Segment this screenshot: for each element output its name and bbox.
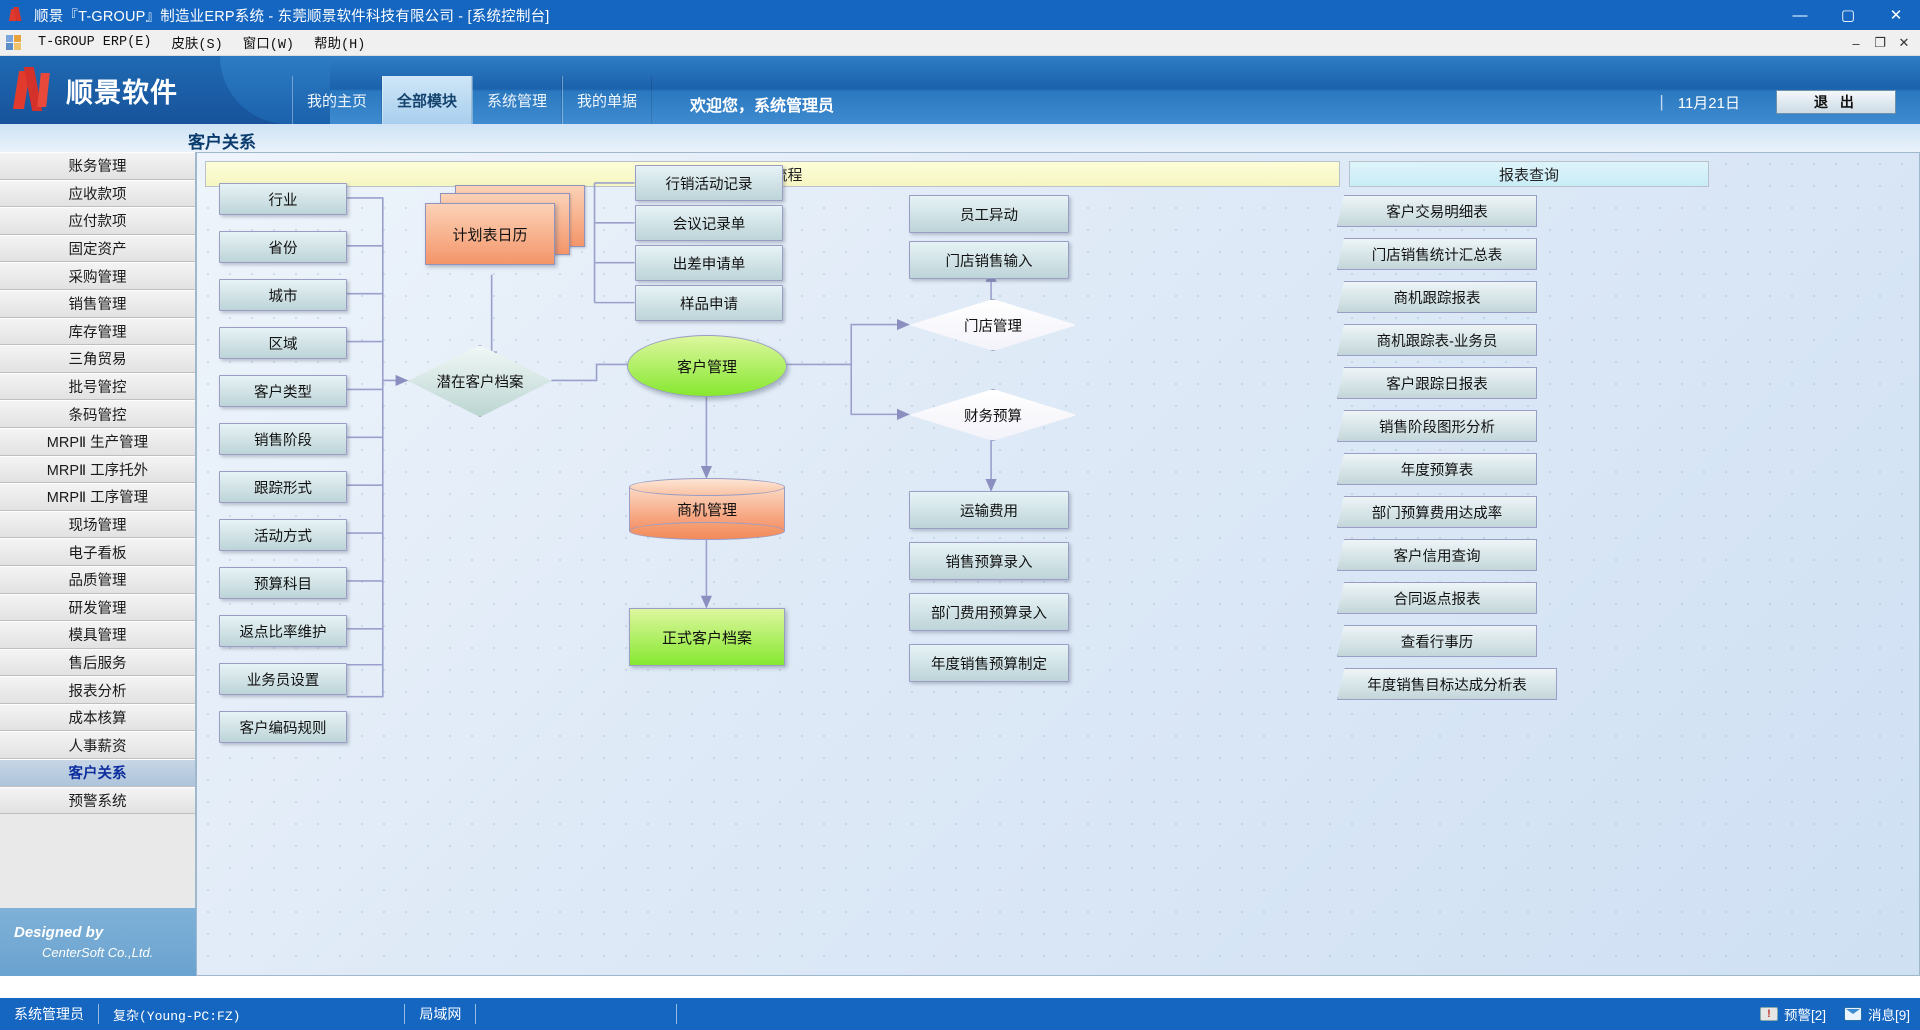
report-customer-tracking-daily[interactable]: 客户跟踪日报表	[1337, 367, 1537, 399]
node-employee-transfer[interactable]: 员工异动	[909, 195, 1069, 233]
sidebar-item-ekanban[interactable]: 电子看板	[0, 538, 195, 566]
menu-item-erp[interactable]: T-GROUP ERP(E)	[28, 32, 161, 53]
node-store-management-label: 门店管理	[964, 315, 1022, 336]
warning-icon	[1760, 1007, 1778, 1021]
report-customer-transaction-detail[interactable]: 客户交易明细表	[1337, 195, 1537, 227]
page-title: 客户关系	[188, 128, 256, 153]
node-customer-management[interactable]: 客户管理	[627, 335, 787, 397]
node-dept-expense-budget[interactable]: 部门费用预算录入	[909, 593, 1069, 631]
report-annual-budget[interactable]: 年度预算表	[1337, 453, 1537, 485]
sidebar-item-triangle-trade[interactable]: 三角贸易	[0, 345, 195, 373]
node-opportunity-label: 商机管理	[629, 478, 785, 540]
mdi-app-icon	[6, 35, 22, 51]
sidebar-footer-credit: Designed by CenterSoft Co.,Ltd.	[0, 908, 196, 976]
sidebar-item-receivables[interactable]: 应收款项	[0, 180, 195, 208]
node-potential-customer-file[interactable]: 潜在客户档案	[408, 345, 552, 417]
sidebar-item-cost-accounting[interactable]: 成本核算	[0, 704, 195, 732]
mdi-window-controls: – ❐ ✕	[1844, 30, 1916, 56]
logout-button[interactable]: 退 出	[1776, 90, 1896, 114]
status-connection: 复杂(Young-PC:FZ)	[99, 998, 254, 1030]
minimize-icon[interactable]: —	[1776, 0, 1824, 30]
node-city[interactable]: 城市	[219, 279, 347, 311]
sidebar-item-quality[interactable]: 品质管理	[0, 566, 195, 594]
mail-icon	[1844, 1007, 1862, 1021]
node-province[interactable]: 省份	[219, 231, 347, 263]
sidebar-item-shopfloor[interactable]: 现场管理	[0, 511, 195, 539]
window-titlebar: 顺景『T-GROUP』制造业ERP系统 - 东莞顺景软件科技有限公司 - [系统…	[0, 0, 1920, 30]
vendor-name-label: CenterSoft Co.,Ltd.	[0, 945, 196, 960]
alert-indicator[interactable]: 预警[2]	[1760, 1004, 1826, 1024]
sidebar-item-accounting[interactable]: 账务管理	[0, 152, 195, 180]
report-store-sales-summary[interactable]: 门店销售统计汇总表	[1337, 238, 1537, 270]
main-nav-tabs: 我的主页 全部模块 系统管理 我的单据	[292, 76, 652, 124]
node-formal-customer-file[interactable]: 正式客户档案	[629, 608, 785, 666]
maximize-icon[interactable]: ▢	[1824, 0, 1872, 30]
window-controls: — ▢ ✕	[1776, 0, 1920, 30]
menubar: T-GROUP ERP(E) 皮肤(S) 窗口(W) 帮助(H) – ❐ ✕	[0, 30, 1920, 56]
brand-header: 顺景软件 我的主页 全部模块 系统管理 我的单据 欢迎您，系统管理员 | 11月…	[0, 56, 1920, 124]
report-dept-budget-achievement[interactable]: 部门预算费用达成率	[1337, 496, 1537, 528]
menu-item-skin[interactable]: 皮肤(S)	[161, 29, 232, 56]
sidebar-item-crm[interactable]: 客户关系	[0, 759, 195, 787]
node-sample-request[interactable]: 样品申请	[635, 285, 783, 321]
node-store-management[interactable]: 门店管理	[909, 299, 1077, 351]
window-title: 顺景『T-GROUP』制造业ERP系统 - 东莞顺景软件科技有限公司 - [系统…	[34, 5, 550, 26]
brand-name: 顺景软件	[66, 71, 178, 110]
header-date: 11月21日	[1678, 92, 1740, 113]
alert-label: 预警[2]	[1784, 1004, 1826, 1024]
sidebar-item-mold[interactable]: 模具管理	[0, 621, 195, 649]
node-financial-budget-label: 财务预算	[964, 405, 1022, 426]
mdi-restore-icon[interactable]: ❐	[1868, 35, 1892, 51]
node-plan-calendar-stack[interactable]: 计划表日历	[425, 185, 585, 275]
node-budget-subject[interactable]: 预算科目	[219, 567, 347, 599]
report-opportunity-tracking[interactable]: 商机跟踪报表	[1337, 281, 1537, 313]
node-tracking-type[interactable]: 跟踪形式	[219, 471, 347, 503]
sidebar-item-sales[interactable]: 销售管理	[0, 290, 195, 318]
node-rebate-rate[interactable]: 返点比率维护	[219, 615, 347, 647]
node-store-sales-input[interactable]: 门店销售输入	[909, 241, 1069, 279]
node-region[interactable]: 区域	[219, 327, 347, 359]
node-plan-calendar[interactable]: 计划表日历	[425, 203, 555, 265]
status-right-group: 预警[2] 消息[9]	[1760, 1004, 1910, 1024]
sidebar-item-purchasing[interactable]: 采购管理	[0, 262, 195, 290]
report-annual-sales-target[interactable]: 年度销售目标达成分析表	[1337, 668, 1557, 700]
sidebar-item-fixed-assets[interactable]: 固定资产	[0, 235, 195, 263]
menu-item-window[interactable]: 窗口(W)	[233, 29, 304, 56]
mdi-minimize-icon[interactable]: –	[1844, 36, 1868, 51]
report-contract-rebate[interactable]: 合同返点报表	[1337, 582, 1537, 614]
page-title-strip	[0, 124, 1920, 152]
tab-my-documents[interactable]: 我的单据	[562, 76, 652, 124]
node-salesperson-setup[interactable]: 业务员设置	[219, 663, 347, 695]
report-opportunity-by-salesperson[interactable]: 商机跟踪表-业务员	[1337, 324, 1537, 356]
tab-my-homepage[interactable]: 我的主页	[292, 76, 382, 124]
close-icon[interactable]: ✕	[1872, 0, 1920, 30]
app-logo-icon	[10, 7, 26, 23]
node-customer-type[interactable]: 客户类型	[219, 375, 347, 407]
message-label: 消息[9]	[1868, 1004, 1910, 1024]
report-customer-credit-query[interactable]: 客户信用查询	[1337, 539, 1537, 571]
sidebar-item-payables[interactable]: 应付款项	[0, 207, 195, 235]
module-sidebar: 账务管理 应收款项 应付款项 固定资产 采购管理 销售管理 库存管理 三角贸易 …	[0, 152, 196, 976]
node-marketing-activity-record[interactable]: 行销活动记录	[635, 165, 783, 201]
mdi-close-icon[interactable]: ✕	[1892, 35, 1916, 51]
sidebar-item-hr-payroll[interactable]: 人事薪资	[0, 731, 195, 759]
sidebar-item-lot-control[interactable]: 批号管控	[0, 373, 195, 401]
sidebar-item-mrp-production[interactable]: MRPⅡ 生产管理	[0, 428, 195, 456]
status-user: 系统管理员	[0, 998, 98, 1030]
status-network: 局域网	[405, 998, 475, 1030]
node-activity-type[interactable]: 活动方式	[219, 519, 347, 551]
message-indicator[interactable]: 消息[9]	[1844, 1004, 1910, 1024]
welcome-message: 欢迎您，系统管理员	[690, 92, 834, 116]
status-blank-1	[476, 998, 676, 1030]
menu-item-help[interactable]: 帮助(H)	[304, 29, 375, 56]
header-separator: |	[1659, 92, 1663, 112]
report-view-calendar[interactable]: 查看行事历	[1337, 625, 1537, 657]
node-opportunity-management[interactable]: 商机管理	[629, 478, 785, 540]
sidebar-item-mrp-outsourcing[interactable]: MRPⅡ 工序托外	[0, 456, 195, 484]
sidebar-item-alert-system[interactable]: 预警系统	[0, 787, 195, 815]
designed-by-label: Designed by	[0, 924, 196, 941]
tab-system-management[interactable]: 系统管理	[472, 76, 562, 124]
sidebar-item-rnd[interactable]: 研发管理	[0, 594, 195, 622]
status-bar: 系统管理员 复杂(Young-PC:FZ) 局域网 预警[2] 消息[9]	[0, 998, 1920, 1030]
band-report-query: 报表查询	[1349, 161, 1709, 187]
sidebar-item-mrp-process[interactable]: MRPⅡ 工序管理	[0, 483, 195, 511]
node-sales-stage[interactable]: 销售阶段	[219, 423, 347, 455]
sidebar-item-inventory[interactable]: 库存管理	[0, 318, 195, 346]
node-sales-budget-entry[interactable]: 销售预算录入	[909, 542, 1069, 580]
node-annual-sales-budget[interactable]: 年度销售预算制定	[909, 644, 1069, 682]
sidebar-item-barcode-control[interactable]: 条码管控	[0, 400, 195, 428]
sidebar-item-after-sales[interactable]: 售后服务	[0, 649, 195, 677]
node-transport-cost[interactable]: 运输费用	[909, 491, 1069, 529]
node-potential-customer-label: 潜在客户档案	[437, 371, 524, 392]
node-meeting-record[interactable]: 会议记录单	[635, 205, 783, 241]
sidebar-item-report-analysis[interactable]: 报表分析	[0, 676, 195, 704]
brand-logo-area: 顺景软件	[0, 56, 290, 124]
flowchart-canvas: 作业流程 报表查询	[196, 152, 1920, 976]
node-financial-budget[interactable]: 财务预算	[909, 389, 1077, 441]
header-right-area: | 11月21日 退 出	[1659, 90, 1896, 114]
node-business-trip-request[interactable]: 出差申请单	[635, 245, 783, 281]
report-sales-stage-graph[interactable]: 销售阶段图形分析	[1337, 410, 1537, 442]
tab-all-modules[interactable]: 全部模块	[382, 76, 472, 124]
erp-application-window: 顺景『T-GROUP』制造业ERP系统 - 东莞顺景软件科技有限公司 - [系统…	[0, 0, 1920, 1030]
company-logo-icon	[14, 67, 58, 113]
node-industry[interactable]: 行业	[219, 183, 347, 215]
status-blank-2	[677, 998, 877, 1030]
node-customer-code-rule[interactable]: 客户编码规则	[219, 711, 347, 743]
